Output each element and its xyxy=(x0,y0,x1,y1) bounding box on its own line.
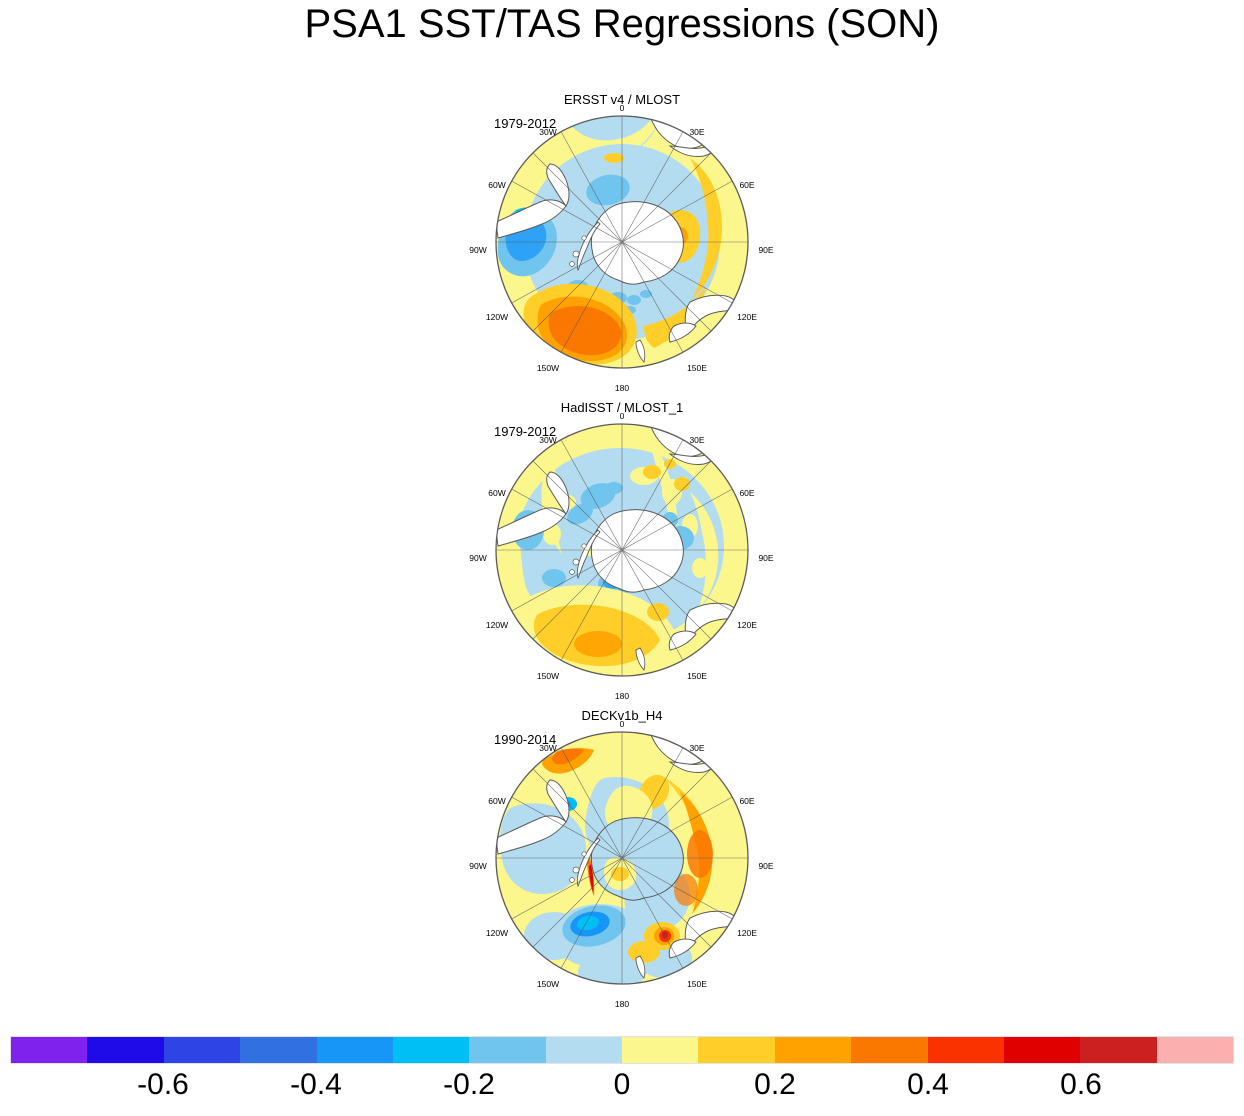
colorbar-tick--0.6: -0.6 xyxy=(137,1068,189,1102)
panel-3-lon-60E: 60E xyxy=(739,796,754,806)
panel-2-lon-180: 180 xyxy=(615,691,629,701)
colorbar-swatch-1 xyxy=(87,1037,163,1063)
colorbar-swatch-12 xyxy=(928,1037,1004,1063)
colorbar-swatch-3 xyxy=(240,1037,316,1063)
panel-3-lon-30W: 30W xyxy=(539,743,556,753)
panel-3: DECKv1b_H4 1990-2014 xyxy=(0,708,1244,1008)
panel-3-lon-180: 180 xyxy=(615,999,629,1009)
colorbar-tick-0.4: 0.4 xyxy=(907,1068,949,1102)
panel-1-lon-150W: 150W xyxy=(537,363,559,373)
panel-2-lon-30E: 30E xyxy=(689,435,704,445)
colorbar-tick--0.2: -0.2 xyxy=(443,1068,495,1102)
panel-3-lon-120W: 120W xyxy=(486,928,508,938)
panel-1-lon-120E: 120E xyxy=(737,312,757,322)
colorbar-swatch-6 xyxy=(469,1037,545,1063)
panel-2-lon-90W: 90W xyxy=(469,553,486,563)
panel-1-lon-180: 180 xyxy=(615,383,629,393)
panel-2-map-svg xyxy=(494,422,750,678)
colorbar-swatch-2 xyxy=(164,1037,240,1063)
panel-1-lon-30E: 30E xyxy=(689,127,704,137)
colorbar-tick-labels: -0.6-0.4-0.200.20.40.6 xyxy=(10,1068,1234,1112)
panel-1-lon-60E: 60E xyxy=(739,180,754,190)
colorbar xyxy=(10,1036,1234,1064)
colorbar-swatch-0 xyxy=(11,1037,87,1063)
panel-3-lon-90E: 90E xyxy=(758,861,773,871)
panel-1-lon-120W: 120W xyxy=(486,312,508,322)
panel-2-lon-30W: 30W xyxy=(539,435,556,445)
panel-1-lon-0: 0 xyxy=(620,103,625,113)
colorbar-swatch-8 xyxy=(622,1037,698,1063)
colorbar-swatch-15 xyxy=(1157,1037,1233,1063)
colorbar-tick--0.4: -0.4 xyxy=(290,1068,342,1102)
colorbar-swatch-4 xyxy=(317,1037,393,1063)
colorbar-swatch-14 xyxy=(1080,1037,1156,1063)
panel-1-map[interactable] xyxy=(494,114,750,370)
panel-2-lon-150W: 150W xyxy=(537,671,559,681)
panel-2-lon-120W: 120W xyxy=(486,620,508,630)
panel-3-lon-90W: 90W xyxy=(469,861,486,871)
panel-1-lon-60W: 60W xyxy=(488,180,505,190)
panel-3-map[interactable] xyxy=(494,730,750,986)
panel-3-lon-60W: 60W xyxy=(488,796,505,806)
panel-2: HadISST / MLOST_1 1979-2012 xyxy=(0,400,1244,700)
panel-1: ERSST v4 / MLOST 1979-2012 xyxy=(0,92,1244,392)
colorbar-tick-0.6: 0.6 xyxy=(1060,1068,1102,1102)
colorbar-tick-0: 0 xyxy=(614,1068,631,1102)
panel-3-map-svg xyxy=(494,730,750,986)
colorbar-swatch-10 xyxy=(775,1037,851,1063)
panel-2-lon-60W: 60W xyxy=(488,488,505,498)
panel-3-lon-150W: 150W xyxy=(537,979,559,989)
colorbar-swatch-5 xyxy=(393,1037,469,1063)
panel-3-lon-120E: 120E xyxy=(737,928,757,938)
colorbar-swatch-7 xyxy=(546,1037,622,1063)
panel-2-lon-150E: 150E xyxy=(687,671,707,681)
panel-2-lon-60E: 60E xyxy=(739,488,754,498)
panel-1-lon-90W: 90W xyxy=(469,245,486,255)
panel-3-lon-150E: 150E xyxy=(687,979,707,989)
colorbar-swatch-9 xyxy=(698,1037,774,1063)
colorbar-swatch-11 xyxy=(851,1037,927,1063)
panel-1-lon-150E: 150E xyxy=(687,363,707,373)
panel-1-lon-90E: 90E xyxy=(758,245,773,255)
colorbar-swatch-13 xyxy=(1004,1037,1080,1063)
panel-2-lon-120E: 120E xyxy=(737,620,757,630)
panel-2-map[interactable] xyxy=(494,422,750,678)
panel-2-lon-90E: 90E xyxy=(758,553,773,563)
panel-3-lon-0: 0 xyxy=(620,719,625,729)
colorbar-tick-0.2: 0.2 xyxy=(754,1068,796,1102)
panel-3-lon-30E: 30E xyxy=(689,743,704,753)
figure-title: PSA1 SST/TAS Regressions (SON) xyxy=(0,2,1244,47)
panel-2-lon-0: 0 xyxy=(620,411,625,421)
panel-1-map-svg xyxy=(494,114,750,370)
panel-1-lon-30W: 30W xyxy=(539,127,556,137)
